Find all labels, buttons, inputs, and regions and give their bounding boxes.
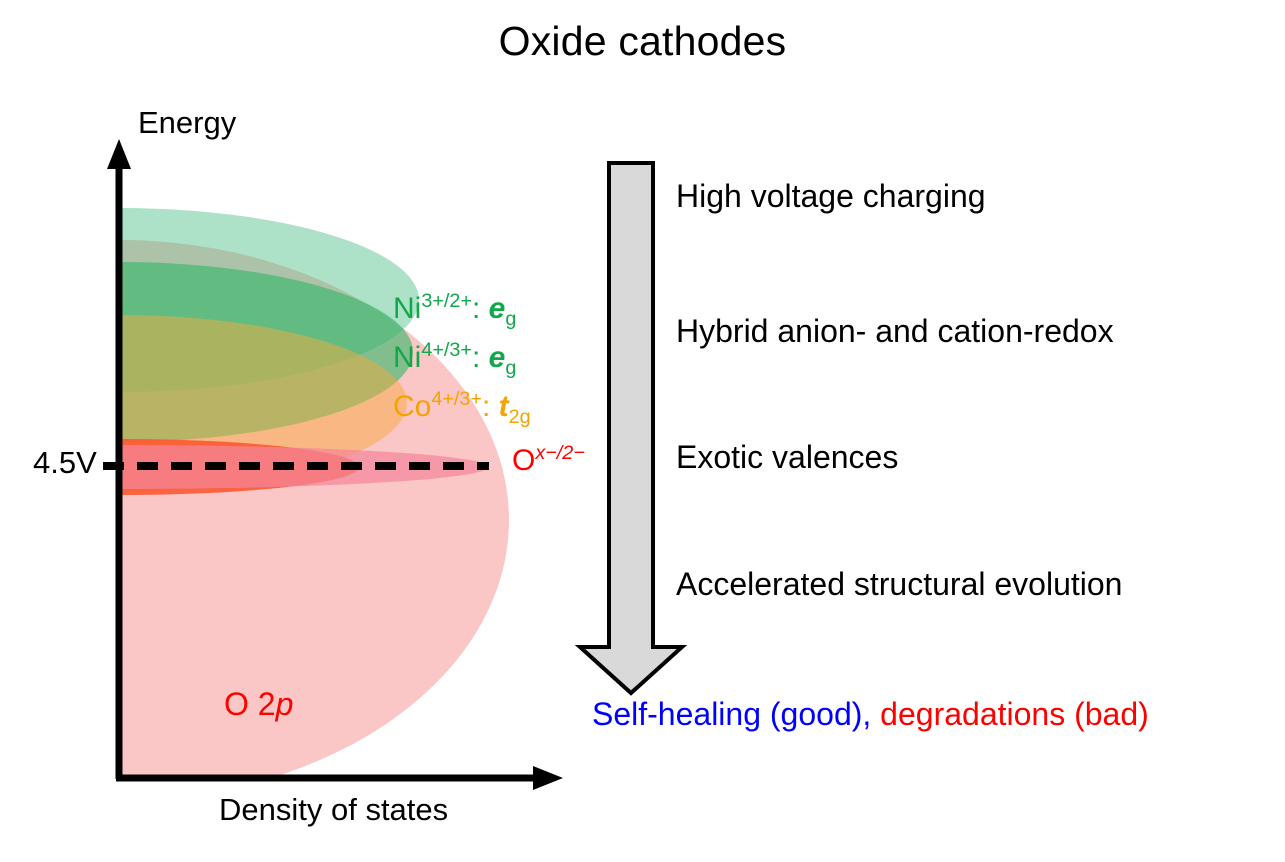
figure-canvas: Oxide cathodes xyxy=(0,0,1285,862)
outcome-bad-text: degradations (bad) xyxy=(871,696,1149,732)
x-axis-arrowhead xyxy=(533,766,563,790)
band-label-ni-3-2: Ni3+/2+: eg xyxy=(393,291,516,327)
process-step-hybrid-redox: Hybrid anion- and cation-redox xyxy=(676,311,1114,351)
voltage-level-label: 4.5V xyxy=(33,444,97,482)
band-label-co-4-3-charge: 4+/3+ xyxy=(431,388,482,410)
downward-process-arrow xyxy=(580,163,682,693)
band-label-co-4-3-orbital: t xyxy=(499,390,509,423)
band-label-co-4-3-element: Co xyxy=(393,390,431,423)
band-label-o-2p: O 2p xyxy=(224,685,293,723)
band-label-ni-4-3-charge: 4+/3+ xyxy=(421,339,472,361)
band-label-oxygen-hole-charge: x−/2− xyxy=(535,442,585,464)
band-label-o-2p-italic: p xyxy=(276,686,294,722)
process-step-structural-evolution: Accelerated structural evolution xyxy=(676,564,1122,604)
outcome-good-text: Self-healing (good), xyxy=(592,696,871,732)
band-label-oxygen-hole-element: O xyxy=(512,444,535,477)
y-axis-label: Energy xyxy=(138,104,236,142)
band-label-ni-3-2-charge: 3+/2+ xyxy=(421,290,472,312)
figure-title: Oxide cathodes xyxy=(0,16,1285,66)
band-ni-4-3 xyxy=(0,262,413,442)
band-ni-3-2 xyxy=(0,208,419,392)
band-label-ni-4-3-orbital: e xyxy=(489,341,506,374)
process-step-high-voltage-charging: High voltage charging xyxy=(676,176,986,216)
band-label-o-2p-text: O 2 xyxy=(224,686,276,722)
band-label-ni-3-2-sep: : xyxy=(472,292,489,325)
y-axis-arrowhead xyxy=(107,139,131,169)
band-label-oxygen-hole: Ox−/2− xyxy=(512,443,585,479)
band-label-co-4-3: Co4+/3+: t2g xyxy=(393,389,531,425)
band-label-ni-4-3-orbital-sub: g xyxy=(505,357,516,379)
band-label-ni-3-2-element: Ni xyxy=(393,292,421,325)
process-step-exotic-valences: Exotic valences xyxy=(676,437,898,477)
band-label-ni-4-3-element: Ni xyxy=(393,341,421,374)
band-label-co-4-3-sep: : xyxy=(482,390,499,423)
band-label-ni-4-3-sep: : xyxy=(472,341,489,374)
x-axis-label: Density of states xyxy=(219,791,448,829)
band-label-ni-3-2-orbital-sub: g xyxy=(505,308,516,330)
band-label-ni-4-3: Ni4+/3+: eg xyxy=(393,340,516,376)
band-label-co-4-3-orbital-sub: 2g xyxy=(509,406,531,428)
outcome-caption: Self-healing (good), degradations (bad) xyxy=(592,694,1149,734)
band-label-ni-3-2-orbital: e xyxy=(489,292,506,325)
